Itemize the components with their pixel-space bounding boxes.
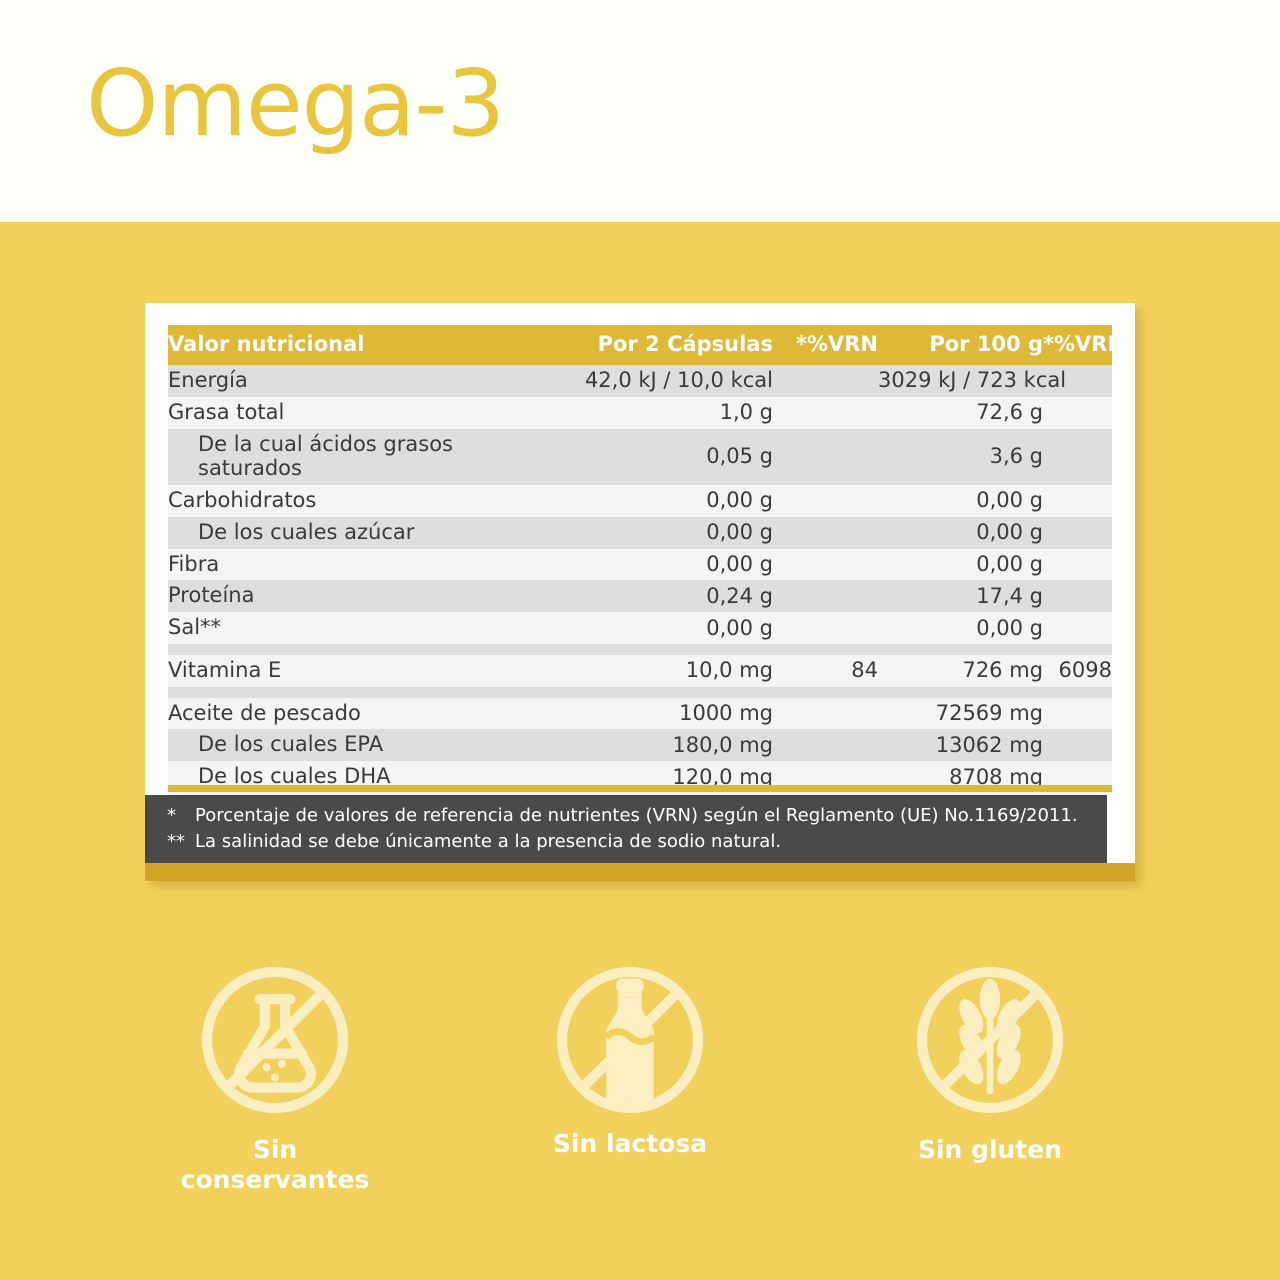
row-vrn-2: [1043, 549, 1112, 581]
table-row: Grasa total1,0 g72,6 g: [168, 397, 1112, 429]
row-per-100: 13062 mg: [878, 729, 1043, 761]
row-label: Carbohidratos: [168, 485, 498, 517]
table-row: Proteína0,24 g17,4 g: [168, 580, 1112, 612]
feature-no-preservatives: Sin conservantes: [110, 955, 440, 1194]
table-spacer-row: [168, 687, 1112, 698]
feature-label: Sin conservantes: [110, 1135, 440, 1194]
row-vrn-2: [1043, 729, 1112, 761]
row-vrn-2: [1043, 580, 1112, 612]
row-per-2: 0,00 g: [498, 612, 773, 644]
card-surface: Valor nutricional Por 2 Cápsulas *%VRN P…: [145, 303, 1135, 881]
row-label: De la cual ácidos grasos saturados: [168, 429, 498, 486]
row-per-2: 0,24 g: [498, 580, 773, 612]
row-per-2: 1,0 g: [498, 397, 773, 429]
table-row: Sal**0,00 g0,00 g: [168, 612, 1112, 644]
table-body: Energía42,0 kJ / 10,0 kcal3029 kJ / 723 …: [168, 365, 1112, 793]
row-label: Proteína: [168, 580, 498, 612]
no-preservatives-flask-icon: [190, 955, 360, 1125]
row-vrn-2: [1043, 485, 1112, 517]
row-per-100: 3,6 g: [878, 429, 1043, 486]
row-per-2: 0,00 g: [498, 517, 773, 549]
row-label: De los cuales EPA: [168, 729, 498, 761]
row-per-2: 0,00 g: [498, 549, 773, 581]
row-vrn-1: 84: [773, 655, 878, 687]
footnote-row: ** La salinidad se debe únicamente a la …: [167, 831, 1107, 854]
column-header-vrn-1: *%VRN: [773, 325, 878, 365]
row-vrn-1: [773, 485, 878, 517]
row-label: Grasa total: [168, 397, 498, 429]
row-vrn-1: [773, 549, 878, 581]
row-per-2: 1000 mg: [498, 698, 773, 730]
row-per-100: 0,00 g: [878, 485, 1043, 517]
row-vrn-1: [773, 365, 878, 397]
table-row: De los cuales azúcar0,00 g0,00 g: [168, 517, 1112, 549]
row-vrn-1: [773, 580, 878, 612]
row-per-100: 0,00 g: [878, 612, 1043, 644]
row-per-2: 180,0 mg: [498, 729, 773, 761]
no-gluten-wheat-icon: [905, 955, 1075, 1125]
table-row: Carbohidratos0,00 g0,00 g: [168, 485, 1112, 517]
row-per-2: 0,05 g: [498, 429, 773, 486]
table-row: Fibra0,00 g0,00 g: [168, 549, 1112, 581]
row-vrn-2: [1043, 517, 1112, 549]
table-header-row: Valor nutricional Por 2 Cápsulas *%VRN P…: [168, 325, 1112, 365]
table-row: Vitamina E10,0 mg84726 mg6098: [168, 655, 1112, 687]
row-vrn-2: [1043, 612, 1112, 644]
table-spacer-row: [168, 644, 1112, 655]
row-label: Energía: [168, 365, 498, 397]
row-vrn-2: [1043, 397, 1112, 429]
row-label: Sal**: [168, 612, 498, 644]
feature-no-gluten: Sin gluten: [825, 955, 1155, 1165]
feature-no-lactose: Sin lactosa: [465, 955, 795, 1159]
row-vrn-2: [1043, 429, 1112, 486]
feature-label: Sin gluten: [825, 1135, 1155, 1165]
table-row: Energía42,0 kJ / 10,0 kcal3029 kJ / 723 …: [168, 365, 1112, 397]
page-title: Omega-3: [86, 58, 504, 150]
row-per-2: 42,0 kJ / 10,0 kcal: [498, 365, 773, 397]
row-vrn-1: [773, 729, 878, 761]
footnote-row: * Porcentaje de valores de referencia de…: [167, 805, 1107, 828]
row-vrn-2: 6098: [1043, 655, 1112, 687]
row-label: Aceite de pescado: [168, 698, 498, 730]
table-row: De los cuales EPA180,0 mg13062 mg: [168, 729, 1112, 761]
row-per-100: 72,6 g: [878, 397, 1043, 429]
column-header-per-100g: Por 100 g: [878, 325, 1043, 365]
row-per-100: 72569 mg: [878, 698, 1043, 730]
row-label: De los cuales azúcar: [168, 517, 498, 549]
column-header-per-2-capsules: Por 2 Cápsulas: [498, 325, 773, 365]
footnotes-panel: * Porcentaje de valores de referencia de…: [145, 795, 1107, 863]
row-per-100: 0,00 g: [878, 517, 1043, 549]
nutrition-facts-card: Valor nutricional Por 2 Cápsulas *%VRN P…: [145, 303, 1135, 881]
footnote-text: La salinidad se debe únicamente a la pre…: [195, 831, 781, 854]
nutrition-table: Valor nutricional Por 2 Cápsulas *%VRN P…: [168, 325, 1112, 793]
table-bottom-rule: [168, 785, 1112, 792]
row-vrn-1: [773, 612, 878, 644]
row-per-100: 0,00 g: [878, 549, 1043, 581]
row-vrn-1: [773, 517, 878, 549]
column-header-vrn-2: *%VRN: [1043, 325, 1112, 365]
row-label: Vitamina E: [168, 655, 498, 687]
row-vrn-1: [773, 429, 878, 486]
footnote-marker: *: [167, 805, 195, 826]
feature-badges: Sin conservantes Sin lactosa: [0, 955, 1280, 1215]
row-vrn-1: [773, 698, 878, 730]
table-row: De la cual ácidos grasos saturados0,05 g…: [168, 429, 1112, 486]
row-vrn-1: [773, 397, 878, 429]
card-bottom-gold-strip: [145, 863, 1135, 881]
row-per-100: 726 mg: [878, 655, 1043, 687]
footnote-marker: **: [167, 831, 195, 852]
row-vrn-2: [1043, 698, 1112, 730]
row-per-2: 10,0 mg: [498, 655, 773, 687]
row-per-2: 0,00 g: [498, 485, 773, 517]
column-header-name: Valor nutricional: [168, 325, 498, 365]
no-lactose-bottle-icon: [545, 955, 715, 1125]
feature-label: Sin lactosa: [465, 1129, 795, 1159]
row-label: Fibra: [168, 549, 498, 581]
table-header: Valor nutricional Por 2 Cápsulas *%VRN P…: [168, 325, 1112, 365]
footnote-text: Porcentaje de valores de referencia de n…: [195, 805, 1078, 828]
row-per-100: 17,4 g: [878, 580, 1043, 612]
row-per-100: 3029 kJ / 723 kcal: [878, 365, 1043, 397]
table-row: Aceite de pescado1000 mg72569 mg: [168, 698, 1112, 730]
